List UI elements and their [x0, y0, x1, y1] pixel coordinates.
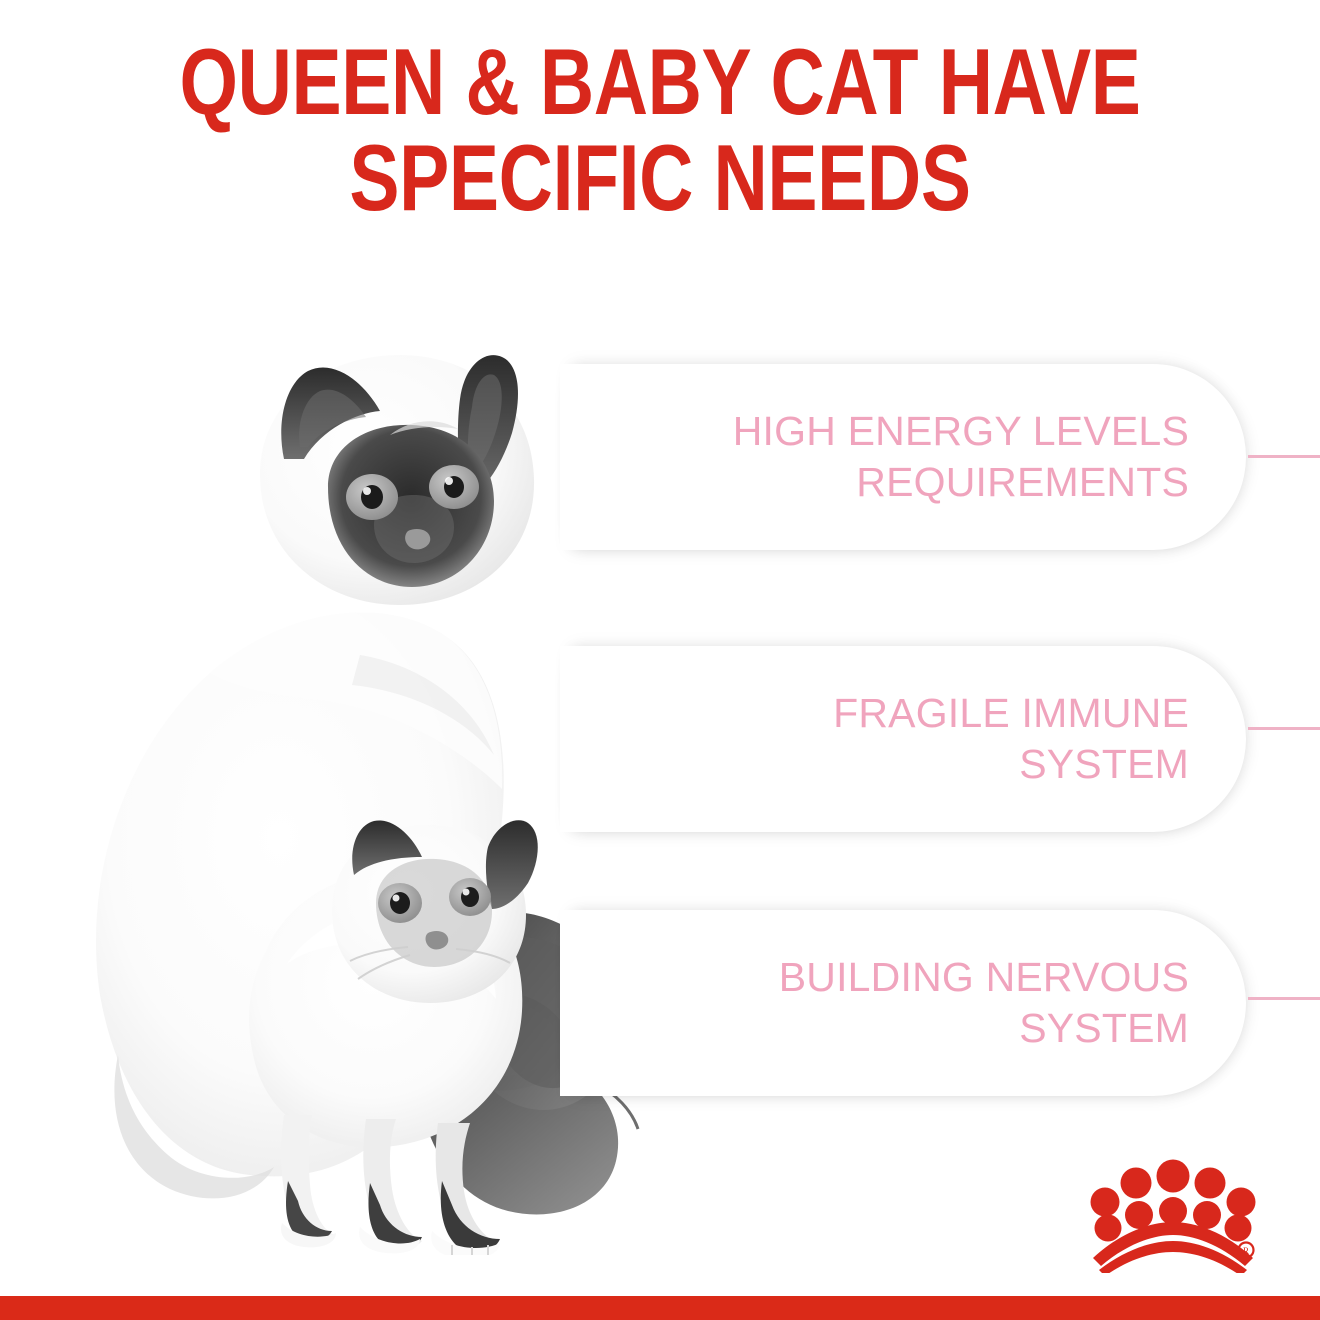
royal-canin-crown-icon: R	[1083, 1158, 1263, 1273]
page-title-line-2: SPECIFIC NEEDS	[132, 130, 1188, 226]
callout-connector-line-3	[1248, 997, 1320, 1000]
callout-card-2: FRAGILE IMMUNE SYSTEM	[560, 646, 1246, 832]
callout-label-2: FRAGILE IMMUNE SYSTEM	[833, 688, 1246, 790]
callout-connector-line-2	[1248, 727, 1320, 730]
svg-text:R: R	[1243, 1246, 1249, 1256]
callout-card-3: BUILDING NERVOUS SYSTEM	[560, 910, 1246, 1096]
callout-label-3: BUILDING NERVOUS SYSTEM	[779, 952, 1246, 1054]
callout-card-1: HIGH ENERGY LEVELS REQUIREMENTS	[560, 364, 1246, 550]
footer-red-bar	[0, 1296, 1320, 1320]
page-title-line-1: QUEEN & BABY CAT HAVE	[132, 34, 1188, 130]
callout-connector-line-1	[1248, 455, 1320, 458]
marketing-banner: QUEEN & BABY CAT HAVE SPECIFIC NEEDS	[0, 0, 1320, 1320]
callout-label-1: HIGH ENERGY LEVELS REQUIREMENTS	[733, 406, 1246, 508]
page-title: QUEEN & BABY CAT HAVE SPECIFIC NEEDS	[132, 34, 1188, 226]
